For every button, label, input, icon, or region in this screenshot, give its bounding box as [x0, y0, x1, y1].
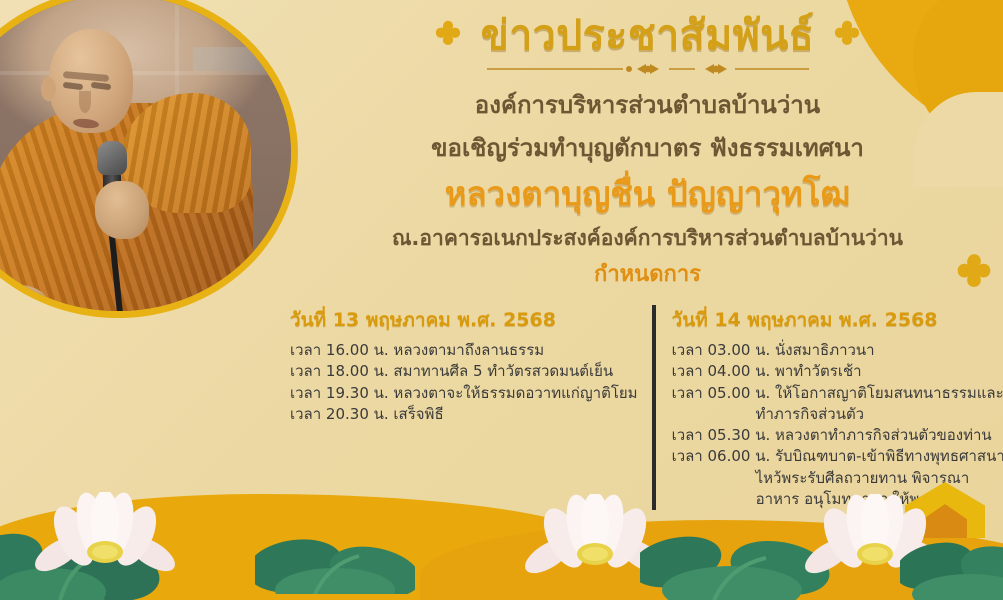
poster-text-block: ข่าวประชาสัมพันธ์ องค์การบริหารส่วนตำบลบ… [300, 14, 995, 290]
poster-canvas: ข่าวประชาสัมพันธ์ องค์การบริหารส่วนตำบลบ… [0, 0, 1003, 600]
monk-hand-holding-microphone [95, 181, 149, 239]
monk-name: หลวงตาบุญชื่น ปัญญาวุทโฒ [300, 174, 995, 214]
quatrefoil-left-icon [431, 19, 465, 53]
item-text: เวลา 04.00 น. พาทำวัตรเช้า [672, 362, 862, 380]
schedule-column-day2: วันที่ 14 พฤษภาคม พ.ศ. 2568 เวลา 03.00 น… [656, 305, 1003, 510]
lotus-leaves-decoration [900, 514, 1003, 600]
page-title: ข่าวประชาสัมพันธ์ [481, 14, 815, 57]
invitation-line: ขอเชิญร่วมทำบุญตักบาตร ฟังธรรมเทศนา [300, 133, 995, 164]
title-flourish-divider-icon [483, 61, 813, 77]
quatrefoil-right-icon [830, 19, 864, 53]
monk-photo-image [0, 0, 291, 311]
title-row: ข่าวประชาสัมพันธ์ [300, 14, 995, 57]
day2-item-list: เวลา 03.00 น. นั่งสมาธิภาวนา เวลา 04.00 … [672, 340, 1003, 510]
monk-ear [41, 77, 56, 101]
background-wall-line [0, 71, 291, 75]
item-text: เวลา 03.00 น. นั่งสมาธิภาวนา [672, 341, 875, 359]
item-text: เวลา 05.00 น. ให้โอกาสญาติโยมสนทนาธรรมแล… [672, 384, 1003, 402]
list-item: เวลา 19.30 น. หลวงตาจะให้ธรรมดอวาทแก่ญาต… [290, 383, 638, 404]
item-text: เวลา 06.00 น. รับบิณฑบาต-เข้าพิธีทางพุทธ… [672, 447, 1003, 465]
list-item: เวลา 16.00 น. หลวงตามาถึงลานธรรม [290, 340, 638, 361]
list-item: เวลา 03.00 น. นั่งสมาธิภาวนา [672, 340, 1003, 361]
day2-heading: วันที่ 14 พฤษภาคม พ.ศ. 2568 [672, 305, 1003, 335]
monk-nose [79, 91, 91, 113]
item-text: เวลา 20.30 น. เสร็จพิธี [290, 405, 444, 423]
day1-heading: วันที่ 13 พฤษภาคม พ.ศ. 2568 [290, 305, 638, 335]
microphone-head-icon [97, 141, 127, 175]
list-item: เวลา 05.30 น. หลวงตาทำภารกิจส่วนตัวของท่… [672, 425, 1003, 446]
schedule-column-day1: วันที่ 13 พฤษภาคม พ.ศ. 2568 เวลา 16.00 น… [290, 305, 652, 425]
venue-line: ณ.อาคารอเนกประสงค์องค์การบริหารส่วนตำบลบ… [300, 225, 995, 252]
list-item: เวลา 18.00 น. สมาทานศีล 5 ทำวัตรสวดมนต์เ… [290, 361, 638, 382]
organization-name: องค์การบริหารส่วนตำบลบ้านว่าน [300, 90, 995, 121]
lotus-leaves-decoration [255, 502, 415, 594]
monk-photo [0, 0, 298, 318]
item-text: เวลา 05.30 น. หลวงตาทำภารกิจส่วนตัวของท่… [672, 426, 992, 444]
item-text: เวลา 19.30 น. หลวงตาจะให้ธรรมดอวาทแก่ญาต… [290, 384, 638, 402]
day1-item-list: เวลา 16.00 น. หลวงตามาถึงลานธรรม เวลา 18… [290, 340, 638, 425]
lotus-flower-decoration [30, 492, 180, 588]
list-item: เวลา 04.00 น. พาทำวัตรเช้า [672, 361, 1003, 382]
monk-head [49, 29, 133, 133]
item-continuation: ทำภารกิจส่วนตัว [672, 404, 1003, 425]
item-text: เวลา 18.00 น. สมาทานศีล 5 ทำวัตรสวดมนต์เ… [290, 362, 613, 380]
schedule-section: วันที่ 13 พฤษภาคม พ.ศ. 2568 เวลา 16.00 น… [290, 305, 993, 510]
schedule-label: กำหนดการ [300, 261, 995, 290]
item-continuation: ไหว้พระรับศีลถวายทาน พิจารณา [672, 468, 1003, 489]
item-text: เวลา 16.00 น. หลวงตามาถึงลานธรรม [290, 341, 544, 359]
list-item: เวลา 20.30 น. เสร็จพิธี [290, 404, 638, 425]
background-wall-panel [193, 47, 298, 71]
list-item: เวลา 05.00 น. ให้โอกาสญาติโยมสนทนาธรรมแล… [672, 383, 1003, 426]
